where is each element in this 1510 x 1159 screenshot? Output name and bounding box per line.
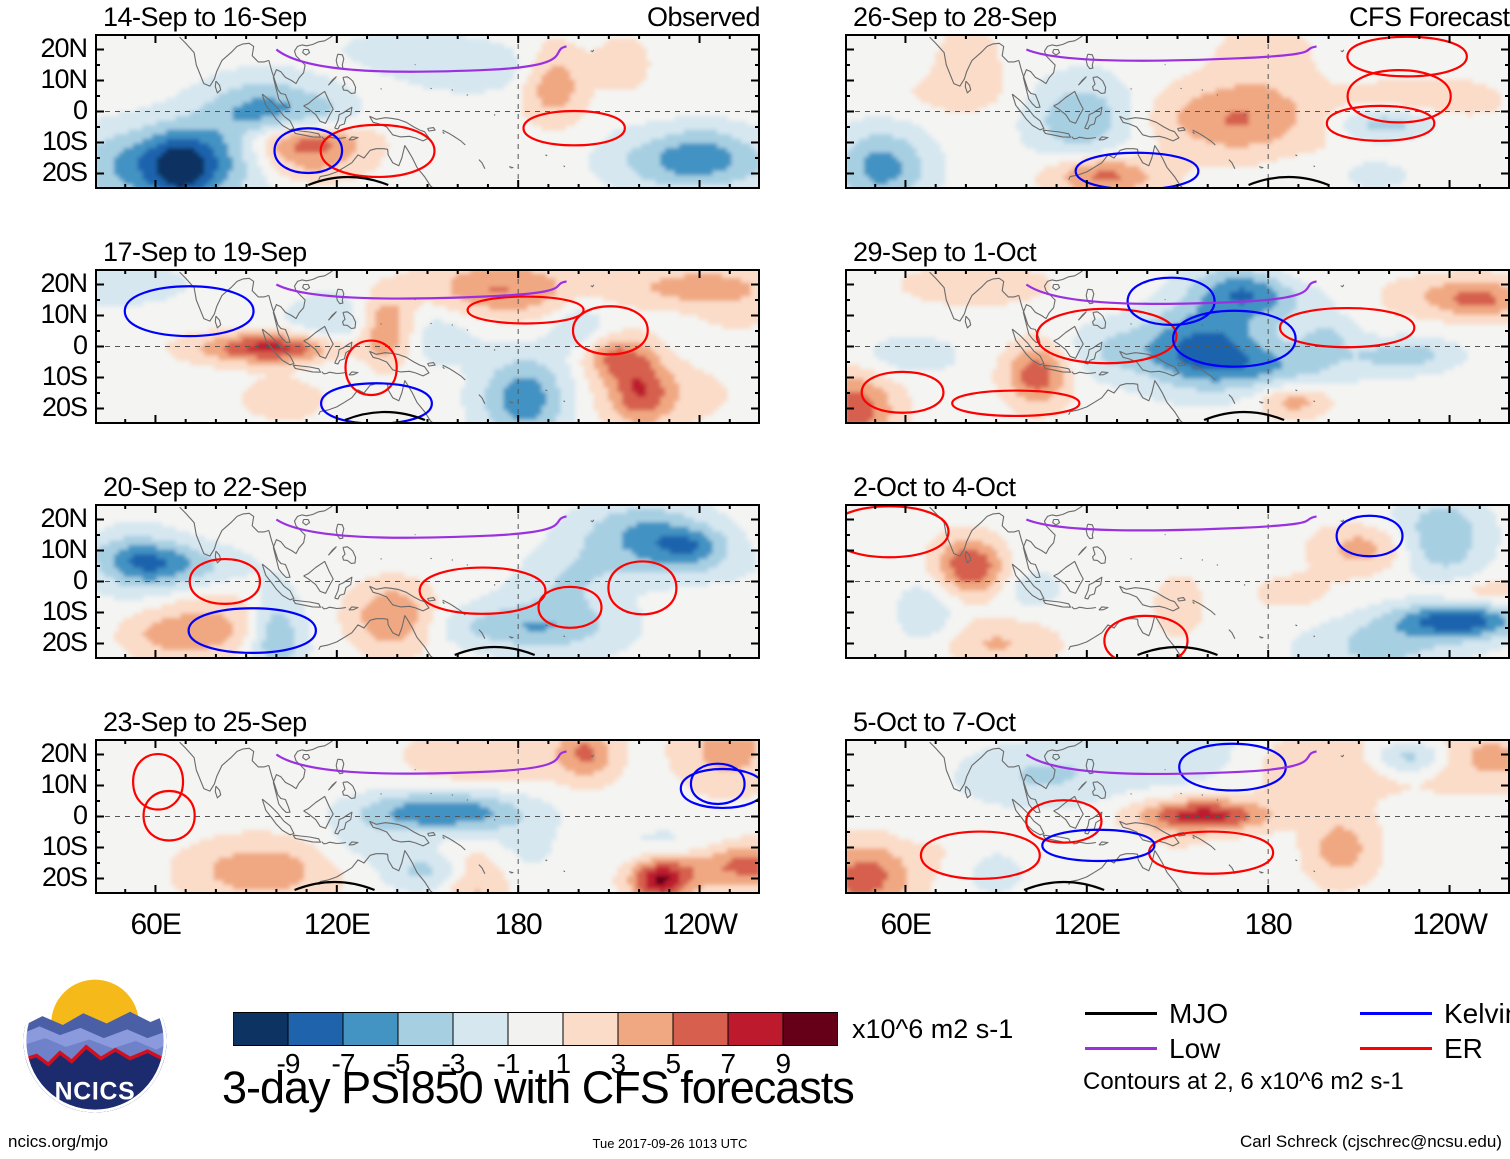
legend-line-kelvin-x2 (1360, 1012, 1432, 1015)
cfs-forecast-column-header: CFS Forecast (1349, 2, 1510, 33)
y-axis-tick-label: 20S (0, 627, 87, 658)
map-panel (95, 504, 760, 659)
colorbar-swatch (563, 1013, 618, 1046)
x-axis-tick-label: 60E (880, 908, 930, 942)
colorbar-swatch (398, 1013, 453, 1046)
x-axis-tick-label: 180 (495, 908, 542, 942)
panel-plot-area (845, 34, 1510, 189)
y-axis-tick-label: 0 (0, 95, 87, 126)
y-axis-tick-label: 10N (0, 64, 87, 95)
observed-column-header: Observed (647, 2, 760, 33)
y-axis-tick-label: 0 (0, 565, 87, 596)
ncics-logo-icon: NCICS (22, 968, 168, 1114)
colorbar-swatch (233, 1013, 288, 1046)
footer-author: Carl Schreck (cjschrec@ncsu.edu) (1240, 1132, 1502, 1152)
panel-title: 23-Sep to 25-Sep (103, 707, 307, 738)
x-axis-tick-label: 60E (130, 908, 180, 942)
map-panel (845, 504, 1510, 659)
y-axis-tick-label: 10N (0, 534, 87, 565)
ncics-logo: NCICS (22, 968, 168, 1114)
legend-line-mjo (1085, 1012, 1157, 1015)
colorbar-swatch (343, 1013, 398, 1046)
panel-plot-area (845, 269, 1510, 424)
colorbar-swatch (783, 1013, 838, 1046)
panel-title: 14-Sep to 16-Sep (103, 2, 307, 33)
map-panel (845, 269, 1510, 424)
y-axis-tick-label: 10N (0, 299, 87, 330)
panel-title: 29-Sep to 1-Oct (853, 237, 1036, 268)
figure-main-title: 3-day PSI850 with CFS forecasts (222, 1062, 854, 1114)
panel-plot-area (95, 34, 760, 189)
colorbar-units-label: x10^6 m2 s-1 (852, 1014, 1013, 1045)
legend-label-er: ER (1444, 1033, 1483, 1065)
y-axis-tick-label: 20S (0, 392, 87, 423)
y-axis-tick-label: 20N (0, 738, 87, 769)
x-axis-tick-label: 120W (1413, 908, 1487, 942)
map-panel (95, 739, 760, 894)
colorbar-swatch (453, 1013, 508, 1046)
x-axis-tick-label: 120E (304, 908, 370, 942)
map-panel (95, 269, 760, 424)
footer-website-link[interactable]: ncics.org/mjo (8, 1132, 108, 1152)
map-panel (845, 739, 1510, 894)
panel-title: 20-Sep to 22-Sep (103, 472, 307, 503)
panel-plot-area (95, 739, 760, 894)
y-axis-tick-label: 20N (0, 268, 87, 299)
colorbar-swatch (508, 1013, 563, 1046)
panel-title: 2-Oct to 4-Oct (853, 472, 1016, 503)
y-axis-tick-label: 20N (0, 33, 87, 64)
y-axis-tick-label: 10S (0, 126, 87, 157)
y-axis-tick-label: 10S (0, 361, 87, 392)
panel-title: 5-Oct to 7-Oct (853, 707, 1016, 738)
map-panel (845, 34, 1510, 189)
panel-plot-area (845, 739, 1510, 894)
x-axis-tick-label: 120W (663, 908, 737, 942)
panel-title: 26-Sep to 28-Sep (853, 2, 1057, 33)
y-axis-tick-label: 0 (0, 800, 87, 831)
y-axis-tick-label: 20S (0, 862, 87, 893)
x-axis-tick-label: 180 (1245, 908, 1292, 942)
panel-title: 17-Sep to 19-Sep (103, 237, 307, 268)
legend-line-er (1360, 1047, 1432, 1050)
panel-plot-area (845, 504, 1510, 659)
colorbar-swatch (728, 1013, 783, 1046)
panel-plot-area (95, 504, 760, 659)
y-axis-tick-label: 0 (0, 330, 87, 361)
y-axis-tick-label: 10N (0, 769, 87, 800)
y-axis-tick-label: 20S (0, 157, 87, 188)
colorbar-swatch (618, 1013, 673, 1046)
y-axis-tick-label: 10S (0, 831, 87, 862)
panel-plot-area (95, 269, 760, 424)
legend-line-low (1085, 1047, 1157, 1050)
footer-timestamp: Tue 2017-09-26 1013 UTC (593, 1136, 748, 1151)
legend-label-kelvin-x2: Kelvin x2 (1444, 998, 1510, 1030)
y-axis-tick-label: 10S (0, 596, 87, 627)
legend-label-low: Low (1169, 1033, 1220, 1065)
map-panel (95, 34, 760, 189)
contour-interval-note: Contours at 2, 6 x10^6 m2 s-1 (1083, 1068, 1404, 1096)
x-axis-tick-label: 120E (1054, 908, 1120, 942)
colorbar-swatch (673, 1013, 728, 1046)
legend-label-mjo: MJO (1169, 998, 1228, 1030)
y-axis-tick-label: 20N (0, 503, 87, 534)
colorbar-swatch (288, 1013, 343, 1046)
colorbar (233, 1012, 838, 1046)
